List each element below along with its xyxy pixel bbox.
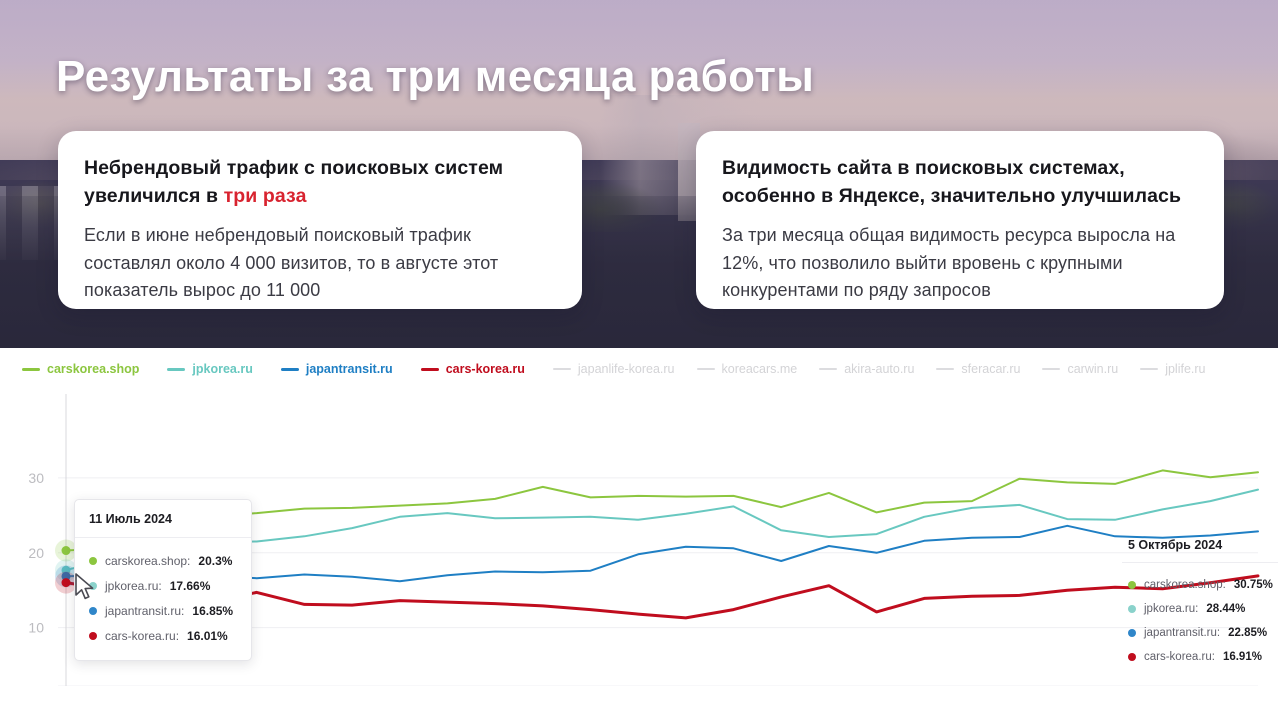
tooltip-series-label: japantransit.ru:	[105, 604, 184, 618]
tooltip-rows: carskorea.shop:30.75%jpkorea.ru:28.44%ja…	[1122, 563, 1278, 673]
tooltip-series-label: cars-korea.ru:	[105, 629, 179, 643]
series-dot-icon	[1128, 653, 1136, 661]
series-dot-icon	[89, 557, 97, 565]
y-axis-tick: 10	[28, 620, 44, 636]
card-heading: Видимость сайта в поисковых системах, ос…	[722, 155, 1198, 210]
card-body: Если в июне небрендовый поисковый трафик…	[84, 222, 556, 304]
legend-label: akira-auto.ru	[844, 362, 914, 376]
legend-label: jpkorea.ru	[192, 362, 252, 376]
tooltip-series-value: 28.44%	[1206, 603, 1245, 615]
tooltip-series-label: japantransit.ru:	[1144, 627, 1220, 639]
legend-swatch-icon	[936, 368, 954, 370]
legend-item-cars-korea-ru[interactable]: cars-korea.ru	[421, 362, 525, 376]
tooltip-series-value: 16.01%	[187, 629, 228, 643]
card-heading: Небрендовый трафик с поисковых систем ув…	[84, 155, 556, 210]
legend-item-carwin-ru[interactable]: carwin.ru	[1042, 362, 1118, 376]
tooltip-row: carskorea.shop:20.3%	[89, 548, 237, 573]
card-body: За три месяца общая видимость ресурса вы…	[722, 222, 1198, 304]
legend-item-sferacar-ru[interactable]: sferacar.ru	[936, 362, 1020, 376]
series-dot-icon	[89, 607, 97, 615]
legend-label: carskorea.shop	[47, 362, 139, 376]
legend-swatch-icon	[22, 368, 40, 371]
legend-item-jplife-ru[interactable]: jplife.ru	[1140, 362, 1205, 376]
tooltip-series-label: cars-korea.ru:	[1144, 651, 1215, 663]
legend-label: carwin.ru	[1067, 362, 1118, 376]
series-dot-icon	[1128, 605, 1136, 613]
tooltip-date: 5 Октябрь 2024	[1122, 530, 1278, 563]
mouse-cursor-icon	[74, 573, 98, 603]
legend-label: jplife.ru	[1165, 362, 1205, 376]
tooltip-rows: carskorea.shop:20.3%jpkorea.ru:17.66%jap…	[75, 538, 251, 660]
series-dot-icon	[1128, 629, 1136, 637]
legend-label: cars-korea.ru	[446, 362, 525, 376]
legend-swatch-icon	[1042, 368, 1060, 370]
chart-tooltip-right: 5 Октябрь 2024 carskorea.shop:30.75%jpko…	[1122, 530, 1278, 673]
legend-item-japanlife-korea-ru[interactable]: japanlife-korea.ru	[553, 362, 675, 376]
legend-item-carskorea-shop[interactable]: carskorea.shop	[22, 362, 139, 376]
tooltip-series-label: carskorea.shop:	[1144, 579, 1226, 591]
legend-label: japanlife-korea.ru	[578, 362, 675, 376]
tooltip-series-value: 20.3%	[198, 554, 232, 568]
legend-item-koreacars-me[interactable]: koreacars.me	[697, 362, 798, 376]
series-dot-icon	[89, 632, 97, 640]
tooltip-row: cars-korea.ru:16.01%	[89, 623, 237, 648]
tooltip-series-value: 30.75%	[1234, 579, 1273, 591]
legend-swatch-icon	[167, 368, 185, 371]
page-title: Результаты за три месяца работы	[56, 52, 814, 102]
legend-item-akira-auto-ru[interactable]: akira-auto.ru	[819, 362, 914, 376]
tooltip-date: 11 Июль 2024	[75, 500, 251, 538]
tooltip-row: carskorea.shop:30.75%	[1128, 573, 1278, 597]
legend-swatch-icon	[697, 368, 715, 370]
tooltip-series-value: 22.85%	[1228, 627, 1267, 639]
tooltip-row: jpkorea.ru:28.44%	[1128, 597, 1278, 621]
tooltip-series-label: jpkorea.ru:	[105, 579, 162, 593]
chart-tooltip-left: 11 Июль 2024 carskorea.shop:20.3%jpkorea…	[74, 499, 252, 661]
y-axis-tick: 20	[28, 545, 44, 561]
hover-marker	[62, 578, 71, 587]
card-visibility: Видимость сайта в поисковых системах, ос…	[696, 131, 1224, 309]
tooltip-row: cars-korea.ru:16.91%	[1128, 645, 1278, 669]
legend-swatch-icon	[421, 368, 439, 371]
legend-label: sferacar.ru	[961, 362, 1020, 376]
tooltip-series-value: 16.85%	[192, 604, 233, 618]
card-heading-accent: три раза	[224, 185, 307, 207]
tooltip-series-label: jpkorea.ru:	[1144, 603, 1198, 615]
legend-swatch-icon	[819, 368, 837, 370]
y-axis-tick: 30	[28, 470, 44, 486]
legend-swatch-icon	[553, 368, 571, 370]
card-nonbrand-traffic: Небрендовый трафик с поисковых систем ув…	[58, 131, 582, 309]
tooltip-row: japantransit.ru:22.85%	[1128, 621, 1278, 645]
tooltip-series-value: 17.66%	[170, 579, 211, 593]
hover-marker	[62, 546, 71, 555]
legend-item-jpkorea-ru[interactable]: jpkorea.ru	[167, 362, 252, 376]
tooltip-row: jpkorea.ru:17.66%	[89, 573, 237, 598]
legend-swatch-icon	[1140, 368, 1158, 370]
tooltip-series-label: carskorea.shop:	[105, 554, 190, 568]
legend-swatch-icon	[281, 368, 299, 371]
tooltip-row: japantransit.ru:16.85%	[89, 598, 237, 623]
legend-label: koreacars.me	[722, 362, 798, 376]
series-dot-icon	[1128, 581, 1136, 589]
legend-item-japantransit-ru[interactable]: japantransit.ru	[281, 362, 393, 376]
chart-legend: carskorea.shopjpkorea.rujapantransit.ruc…	[22, 360, 1262, 378]
tooltip-series-value: 16.91%	[1223, 651, 1262, 663]
legend-label: japantransit.ru	[306, 362, 393, 376]
